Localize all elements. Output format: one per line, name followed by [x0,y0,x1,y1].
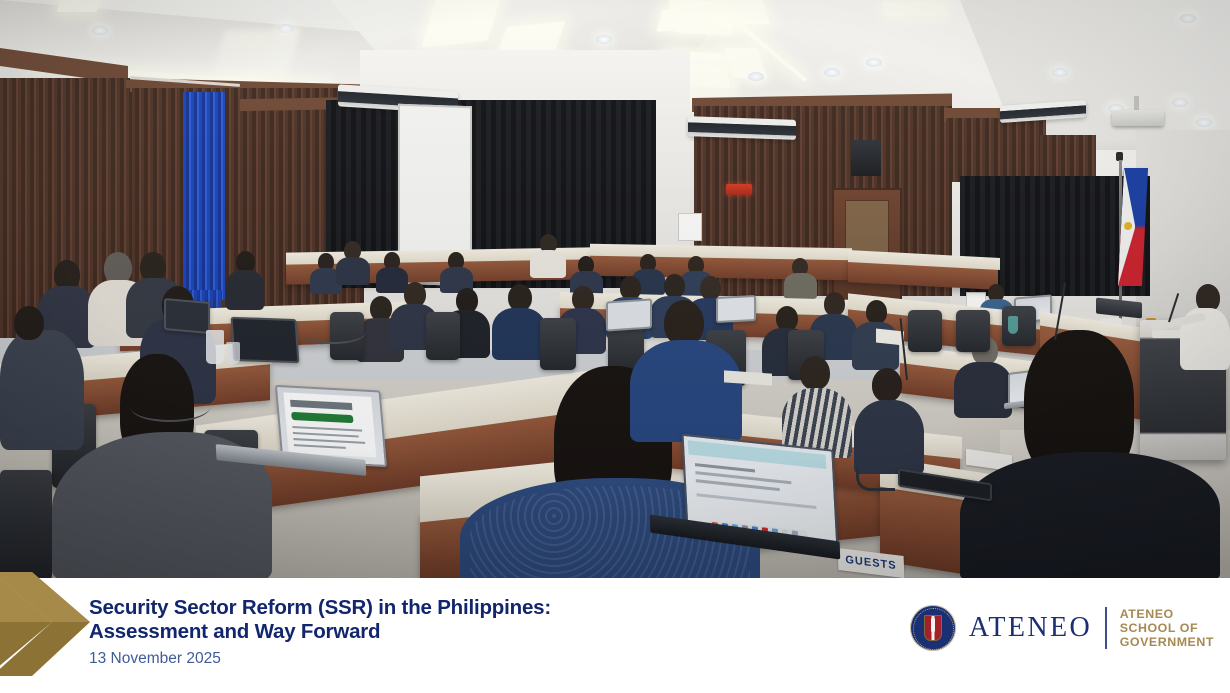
downlight [92,26,108,35]
unit-line-2: SCHOOL OF [1120,621,1214,635]
document-text-line [695,463,755,472]
downlight [1196,118,1212,127]
title-banner: Security Sector Reform (SSR) in the Phil… [0,578,1230,693]
downlight [1180,14,1196,23]
laptop-screen[interactable] [606,298,652,331]
wood-slat-wall [946,118,1046,182]
ateneo-wordmark: ATENEO [969,614,1092,642]
ateneo-seal-icon [910,605,956,651]
chair [956,310,990,352]
downlight [748,72,764,81]
chair [540,318,576,370]
downlight [824,68,840,77]
projector [1112,110,1164,126]
chair [908,310,942,352]
attendee-head [664,274,685,298]
attendee-head [872,368,902,402]
exit-sign [726,184,752,195]
downlight [1172,98,1188,107]
attendee-body [492,308,546,360]
unit-line-3: GOVERNMENT [1120,635,1214,649]
page-title-line-1: Security Sector Reform (SSR) in the Phil… [89,596,551,620]
chair [426,312,460,360]
drink-cup [206,330,224,364]
drink-cup [226,342,240,364]
wall-speaker [851,140,881,176]
downlight [596,35,612,44]
air-conditioner [688,116,796,140]
attendee-head [866,300,887,324]
attendee-body [854,400,924,474]
attendee-body [960,452,1220,580]
attendee-head [14,306,44,340]
downlight [866,58,882,67]
presentation-slide: GUESTS [0,0,1230,693]
chair [0,470,52,580]
attendee-body [784,273,817,299]
document-text-line [697,493,817,509]
ceiling-panel-light [656,6,716,32]
attendee-body [530,250,566,278]
laptop-screen[interactable] [164,298,210,334]
school-unit-name: ATENEO SCHOOL OF GOVERNMENT [1120,607,1214,650]
attendee-body [0,330,84,450]
attendee-head [824,292,845,316]
conference-room-photo: GUESTS [0,0,1230,580]
blue-curtain [183,92,225,300]
unit-line-1: ATENEO [1120,607,1214,621]
event-date: 13 November 2025 [89,648,551,669]
attendee-head [800,356,830,390]
attendee-body [630,340,742,442]
cable [856,468,895,491]
laptop-screen[interactable] [231,317,300,364]
downlight [1052,68,1068,77]
title-block: Security Sector Reform (SSR) in the Phil… [89,596,551,669]
page-title-line-2: Assessment and Way Forward [89,620,551,644]
logo-divider [1105,607,1107,649]
ceiling-panel-light [56,0,103,12]
wall-notice [678,213,702,241]
cable [300,320,366,344]
cable [130,392,210,422]
seal-shield [924,615,942,641]
attendee-body [336,257,370,285]
attendee-body [376,267,408,293]
drink-bottle [1008,316,1018,334]
attendee-body [226,270,264,310]
paper-stack [876,329,904,346]
attendee-body [954,362,1012,418]
attendee-head [508,284,532,311]
laptop-screen[interactable] [716,295,756,323]
ceiling-panel-light [882,2,949,16]
ateneo-logo-lockup: ATENEO ATENEO SCHOOL OF GOVERNMENT [910,605,1214,651]
